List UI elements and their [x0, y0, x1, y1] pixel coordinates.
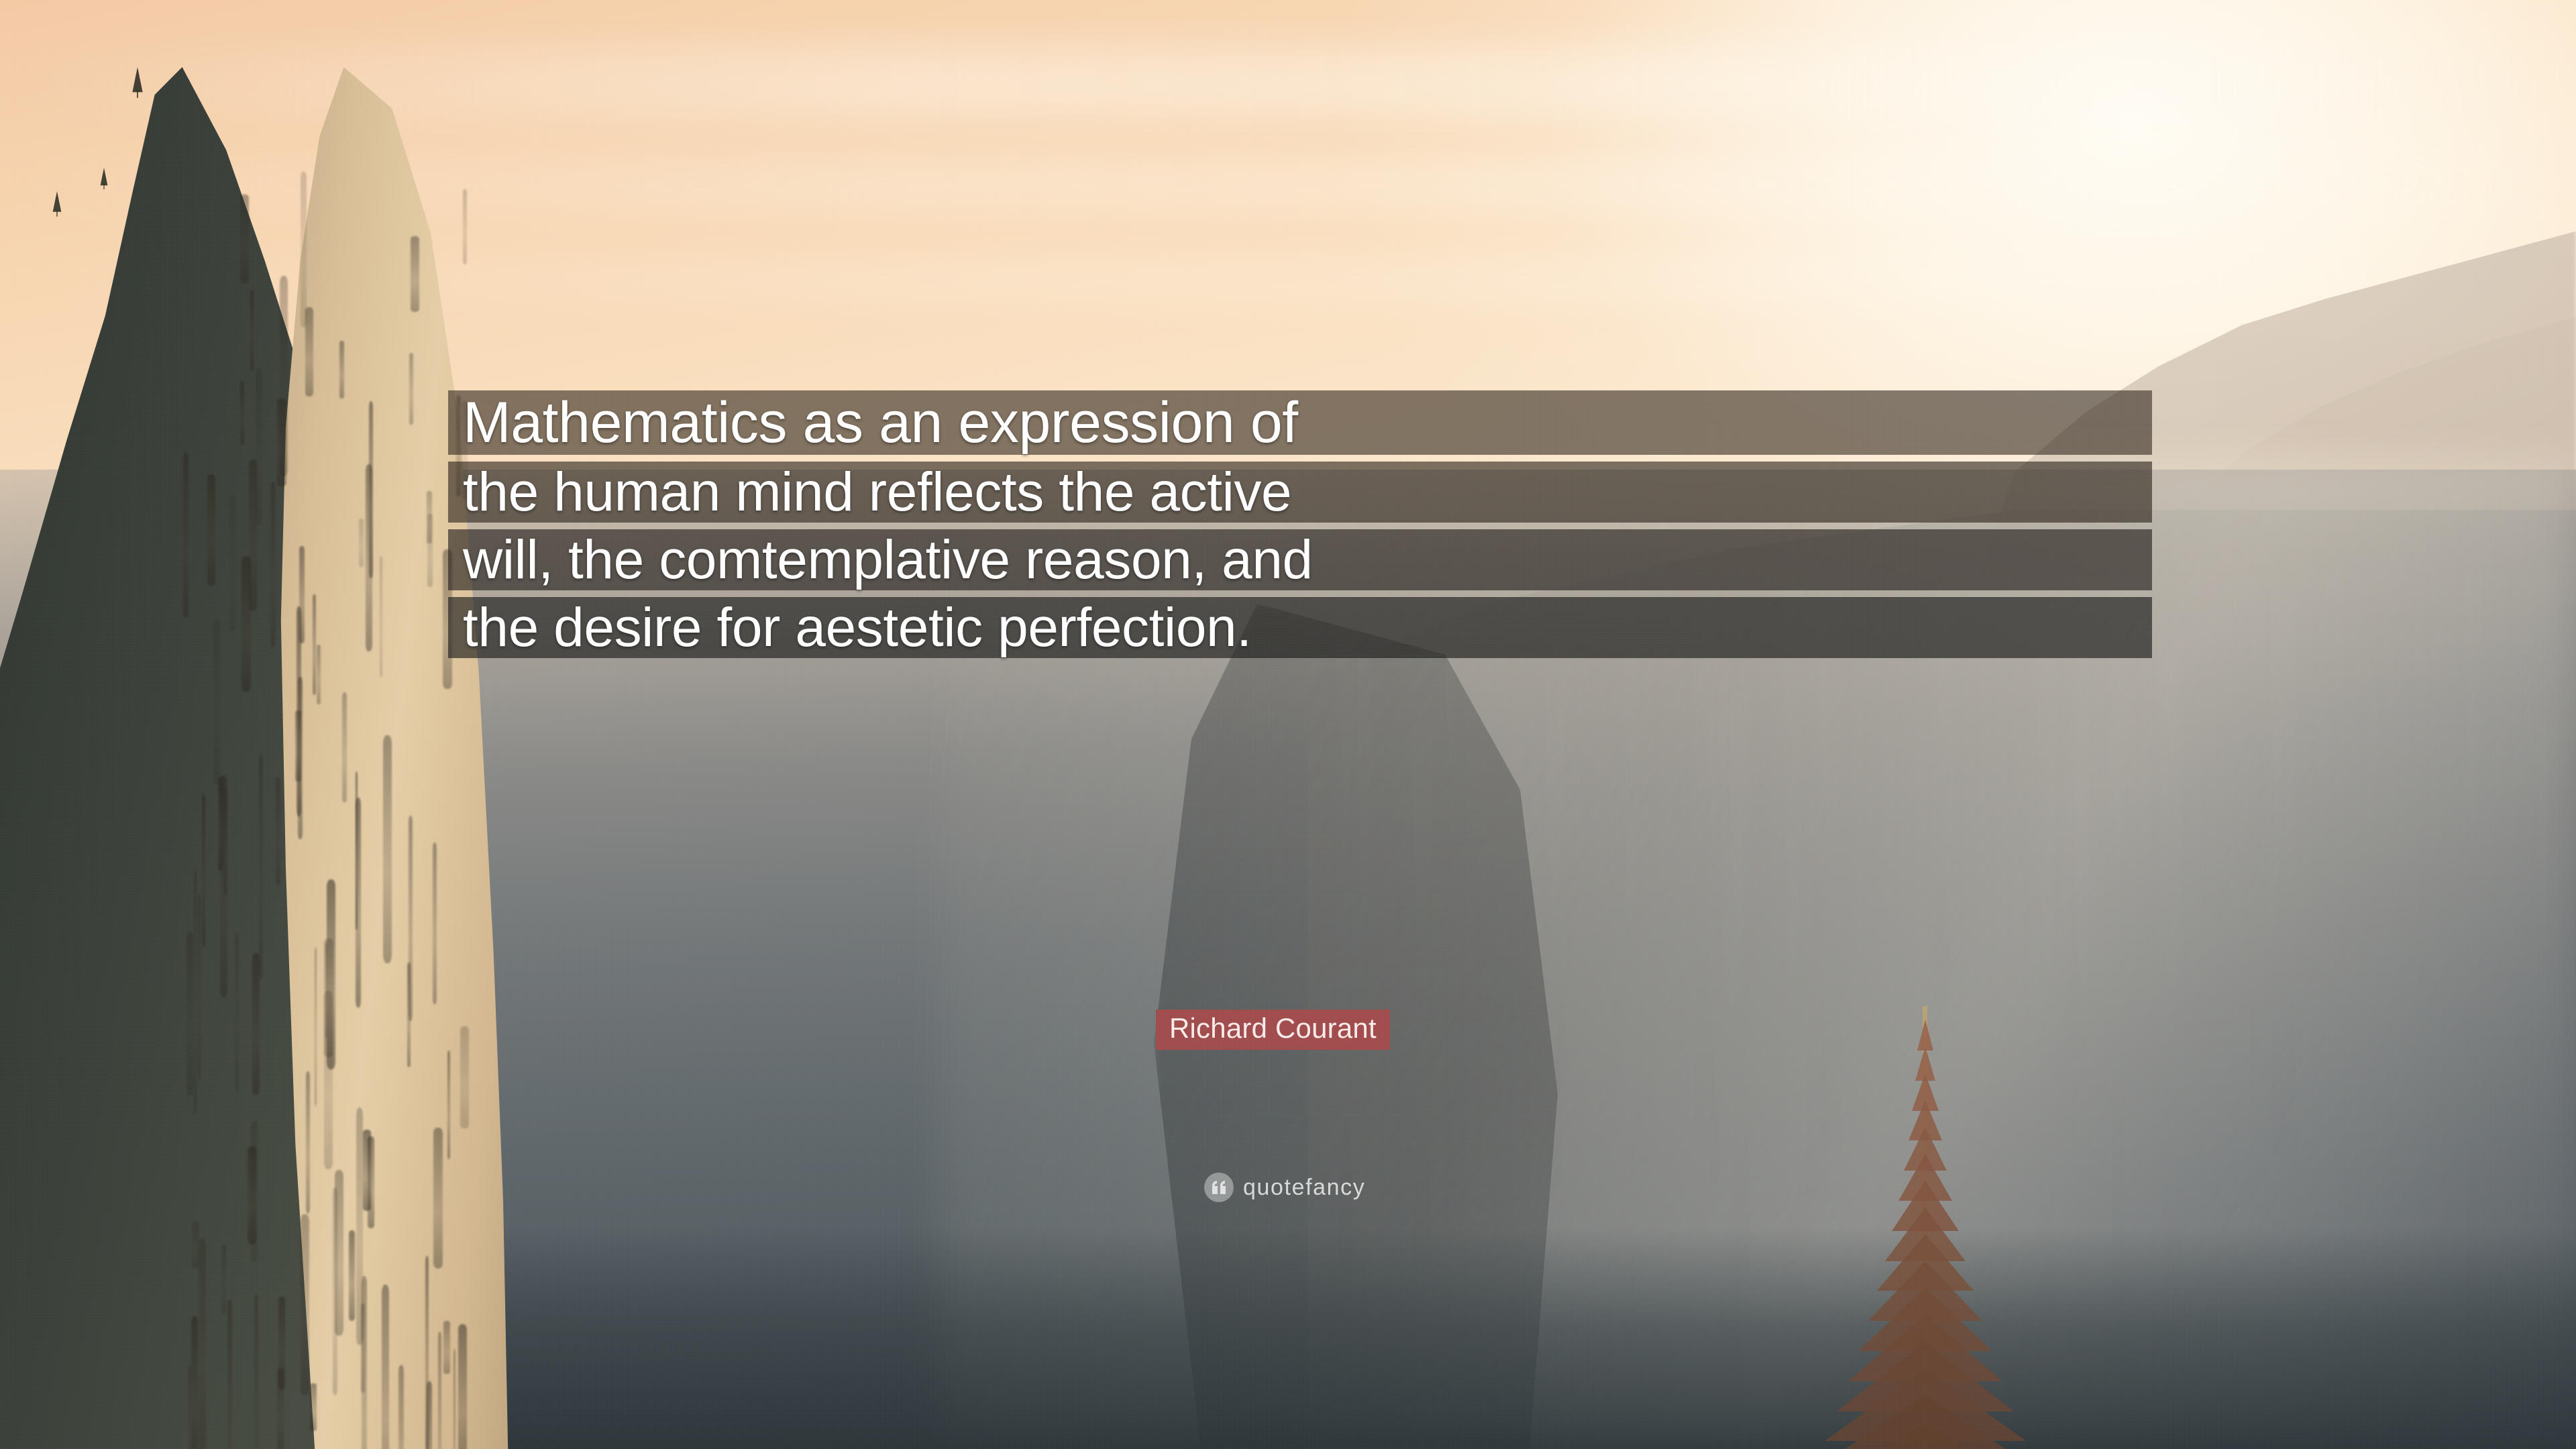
- quote-line-text: the human mind reflects the active: [463, 462, 1291, 523]
- quote-line: the desire for aestetic perfection.: [448, 597, 2152, 658]
- author-name: Richard Courant: [1169, 1014, 1377, 1042]
- quotefancy-watermark[interactable]: quotefancy: [1204, 1173, 1365, 1202]
- quote-mark-icon: [1204, 1173, 1234, 1202]
- quote-line-text: will, the comtemplative reason, and: [463, 529, 1313, 590]
- quote-line-text: the desire for aestetic perfection.: [463, 597, 1252, 658]
- quote-line-text: Mathematics as an expression of: [463, 390, 1298, 455]
- quote-line: will, the comtemplative reason, and: [448, 529, 2152, 590]
- quote-line: Mathematics as an expression of: [448, 390, 2152, 455]
- quote-wallpaper: Mathematics as an expression of the huma…: [0, 0, 2576, 1449]
- granite-spire: [0, 67, 644, 1449]
- watermark-text: quotefancy: [1243, 1176, 1365, 1199]
- author-badge: Richard Courant: [1156, 1010, 1390, 1050]
- quote-text-block: Mathematics as an expression of the huma…: [448, 390, 2152, 665]
- foreground-conifer: [1784, 993, 2066, 1449]
- quote-line: the human mind reflects the active: [448, 462, 2152, 523]
